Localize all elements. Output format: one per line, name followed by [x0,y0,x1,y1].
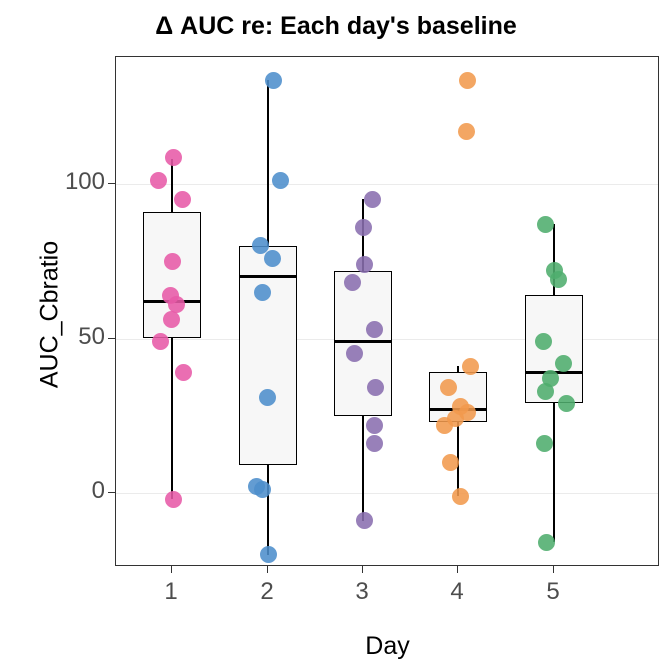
plot-panel [115,56,659,566]
data-point-day-1 [150,172,167,189]
data-point-day-1 [164,253,181,270]
x-tick-label-1: 1 [141,578,201,606]
gridline-y-100 [116,184,658,185]
x-tick-label-3: 3 [332,578,392,606]
data-point-day-5 [536,435,553,452]
data-point-day-1 [152,333,169,350]
data-point-day-2 [265,72,282,89]
data-point-day-2 [272,172,289,189]
data-point-day-4 [436,417,453,434]
data-point-day-3 [367,379,384,396]
y-tick-label-0: 0 [15,477,105,505]
data-point-day-3 [356,256,373,273]
data-point-day-3 [366,417,383,434]
data-point-day-1 [168,296,185,313]
y-axis-title: AUC_Cbratio [36,165,65,465]
data-point-day-1 [165,491,182,508]
x-tick-mark [362,566,363,573]
data-point-day-4 [452,488,469,505]
boxplot-median-day-3 [334,340,392,343]
data-point-day-3 [356,512,373,529]
data-point-day-4 [442,454,459,471]
data-point-day-5 [555,355,572,372]
x-tick-mark [171,566,172,573]
data-point-day-2 [260,546,277,563]
chart-root: Δ AUC re: Each day's baseline AUC_Cbrati… [0,0,672,672]
data-point-day-3 [364,191,381,208]
y-tick-mark [108,183,115,184]
boxplot-median-day-2 [239,275,297,278]
data-point-day-3 [346,345,363,362]
data-point-day-3 [366,321,383,338]
data-point-day-5 [537,383,554,400]
boxplot-box-day-5 [525,295,583,403]
x-axis-title: Day [115,632,660,661]
y-tick-label-100: 100 [15,168,105,196]
data-point-day-2 [254,481,271,498]
data-point-day-3 [366,435,383,452]
data-point-day-5 [538,534,555,551]
x-tick-label-4: 4 [427,578,487,606]
x-tick-label-5: 5 [523,578,583,606]
data-point-day-1 [163,311,180,328]
data-point-day-2 [264,250,281,267]
data-point-day-2 [259,389,276,406]
data-point-day-1 [165,149,182,166]
x-tick-mark [267,566,268,573]
y-tick-label-50: 50 [15,323,105,351]
data-point-day-5 [535,333,552,350]
y-tick-mark [108,338,115,339]
x-tick-label-2: 2 [237,578,297,606]
chart-title: Δ AUC re: Each day's baseline [0,12,672,41]
y-tick-mark [108,492,115,493]
data-point-day-2 [254,284,271,301]
boxplot-box-day-2 [239,246,297,465]
data-point-day-4 [458,123,475,140]
data-point-day-1 [175,364,192,381]
data-point-day-5 [537,216,554,233]
x-tick-mark [553,566,554,573]
data-point-day-3 [355,219,372,236]
data-point-day-3 [344,274,361,291]
data-point-day-4 [462,358,479,375]
data-point-day-4 [459,72,476,89]
data-point-day-5 [550,271,567,288]
data-point-day-5 [558,395,575,412]
data-point-day-1 [174,191,191,208]
x-tick-mark [457,566,458,573]
data-point-day-4 [440,379,457,396]
gridline-y-0 [116,493,658,494]
